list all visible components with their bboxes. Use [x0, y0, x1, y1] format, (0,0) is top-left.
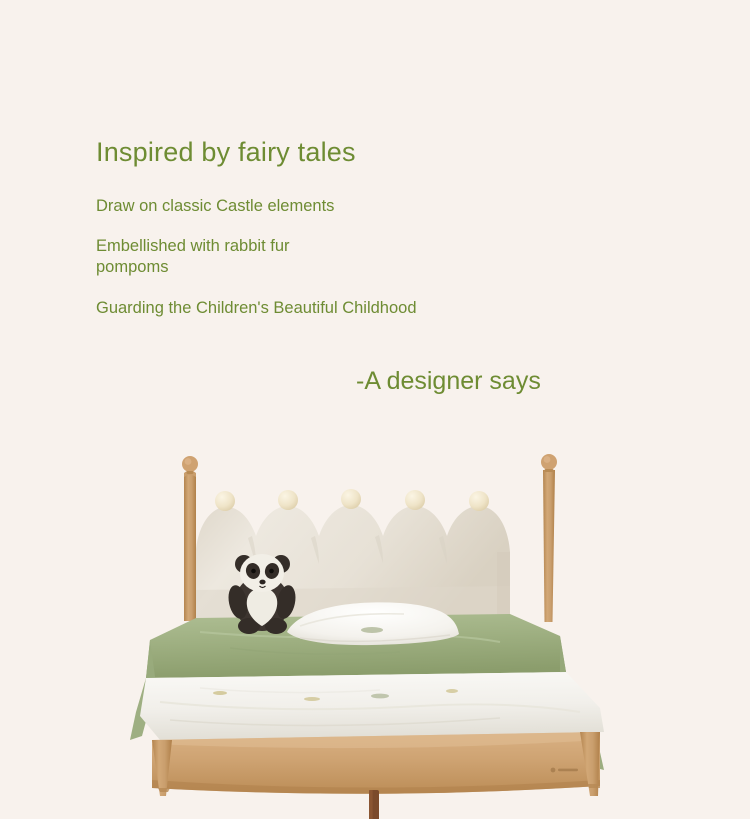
pompom-icon	[469, 491, 489, 511]
bed-footboard-rail	[152, 732, 600, 794]
copy-block: Inspired by fairy tales Draw on classic …	[96, 136, 656, 319]
bed-post-right	[541, 454, 557, 622]
designer-attribution: -A designer says	[356, 366, 541, 396]
pompom-icon	[341, 489, 361, 509]
product-image	[0, 440, 750, 819]
pompom-icon	[405, 490, 425, 510]
feature-line-2: Embellished with rabbit fur pompoms	[96, 236, 346, 278]
feature-line-1: Draw on classic Castle elements	[96, 196, 656, 217]
pompom-icon	[215, 491, 235, 511]
page-title: Inspired by fairy tales	[96, 136, 656, 168]
bed-post-left	[182, 456, 198, 621]
product-promo-page: Inspired by fairy tales Draw on classic …	[0, 0, 750, 819]
pompom-icon	[278, 490, 298, 510]
bed-center-support-leg	[369, 790, 379, 819]
feature-line-3: Guarding the Children's Beautiful Childh…	[96, 298, 656, 319]
childrens-bed-illustration	[0, 440, 750, 819]
pompom-group	[215, 489, 489, 511]
